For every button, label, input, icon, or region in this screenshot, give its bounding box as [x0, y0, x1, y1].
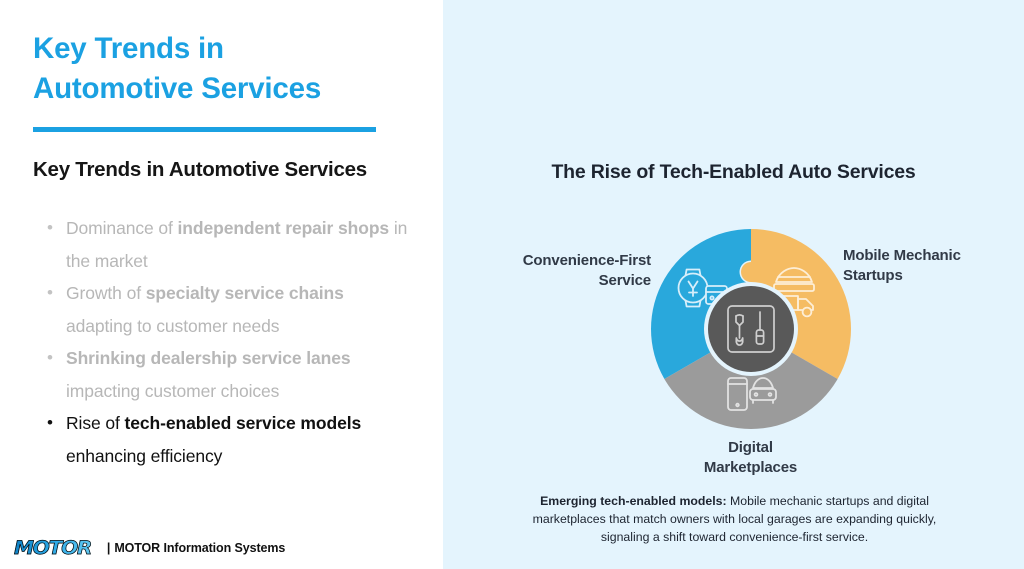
left-content-panel: Key Trends in Automotive Services Key Tr… [0, 0, 443, 569]
segment-label-digital-marketplaces: Digital Marketplaces [643, 438, 858, 478]
segment-label-line-1: Convenience-First [523, 252, 651, 269]
page-title-line-1: Key Trends in [33, 32, 224, 65]
page-title: Key Trends in Automotive Services [33, 29, 413, 109]
page-title-line-2: Automotive Services [33, 72, 321, 105]
bullet-prefix: Rise of [66, 413, 125, 433]
bullet-marker-icon: • [47, 277, 53, 310]
segment-label-line-1: Mobile Mechanic [843, 247, 961, 264]
bullet-suffix: adapting to customer needs [66, 316, 279, 336]
segment-label-mobile-mechanic: Mobile Mechanic Startups [843, 246, 1023, 286]
visual-caption: Emerging tech-enabled models: Mobile mec… [511, 492, 958, 546]
bullet-marker-icon: • [47, 342, 53, 375]
bullet-suffix: impacting customer choices [66, 381, 279, 401]
puzzle-wheel-diagram [648, 226, 854, 432]
wheel-hub[interactable] [704, 282, 798, 376]
footer: MOTOR | MOTOR Information Systems [14, 535, 285, 561]
segment-label-convenience-first: Convenience-First Service [461, 251, 651, 291]
visual-panel: The Rise of Tech-Enabled Auto Services [443, 0, 1024, 569]
bullet-emphasis: independent repair shops [178, 218, 390, 238]
bullet-prefix: Growth of [66, 283, 146, 303]
section-heading: Key Trends in Automotive Services [33, 158, 423, 182]
segment-label-line-2: Marketplaces [704, 459, 797, 476]
list-item: • Growth of specialty service chains ada… [33, 277, 408, 342]
segment-label-line-2: Startups [843, 267, 903, 284]
list-item: • Shrinking dealership service lanes imp… [33, 342, 408, 407]
bullet-marker-icon: • [47, 212, 53, 245]
segment-label-line-2: Service [599, 272, 651, 289]
bullet-suffix: enhancing efficiency [66, 446, 222, 466]
key-trends-bullet-list: • Dominance of independent repair shops … [33, 212, 408, 472]
visual-title: The Rise of Tech-Enabled Auto Services [443, 161, 1024, 184]
bullet-marker-icon: • [47, 407, 53, 440]
caption-lead: Emerging tech-enabled models: [540, 494, 727, 508]
motor-logo: MOTOR [14, 537, 95, 559]
list-item: • Rise of tech-enabled service models en… [33, 407, 408, 472]
bullet-emphasis: tech-enabled service models [125, 413, 362, 433]
footer-divider: | [107, 541, 111, 555]
list-item: • Dominance of independent repair shops … [33, 212, 408, 277]
segment-label-line-1: Digital [728, 439, 773, 456]
footer-label: MOTOR Information Systems [114, 541, 285, 555]
puzzle-wheel-svg [648, 226, 854, 432]
title-underline-rule [33, 127, 376, 132]
bullet-emphasis: specialty service chains [146, 283, 344, 303]
bullet-prefix: Dominance of [66, 218, 178, 238]
bullet-emphasis: Shrinking dealership service lanes [66, 348, 351, 368]
